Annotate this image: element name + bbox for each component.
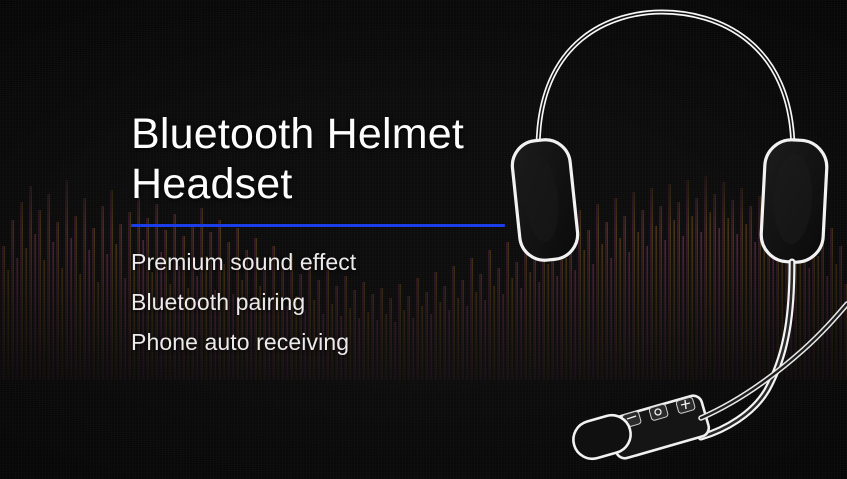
- right-earcup: [760, 138, 828, 263]
- list-item: Phone auto receiving: [131, 323, 551, 363]
- page-title: Bluetooth Helmet Headset: [131, 110, 551, 210]
- plus-icon-vertical: [685, 400, 686, 409]
- left-earcup: [510, 137, 580, 262]
- copy-block: Bluetooth Helmet Headset Premium sound e…: [131, 110, 551, 363]
- feature-list: Premium sound effect Bluetooth pairing P…: [131, 243, 551, 363]
- accent-divider: [131, 224, 505, 227]
- list-item: Bluetooth pairing: [131, 283, 551, 323]
- list-item: Premium sound effect: [131, 243, 551, 283]
- cable: [701, 304, 847, 418]
- product-illustration: [505, 0, 847, 479]
- headband: [538, 12, 793, 152]
- product-banner: Bluetooth Helmet Headset Premium sound e…: [0, 0, 847, 479]
